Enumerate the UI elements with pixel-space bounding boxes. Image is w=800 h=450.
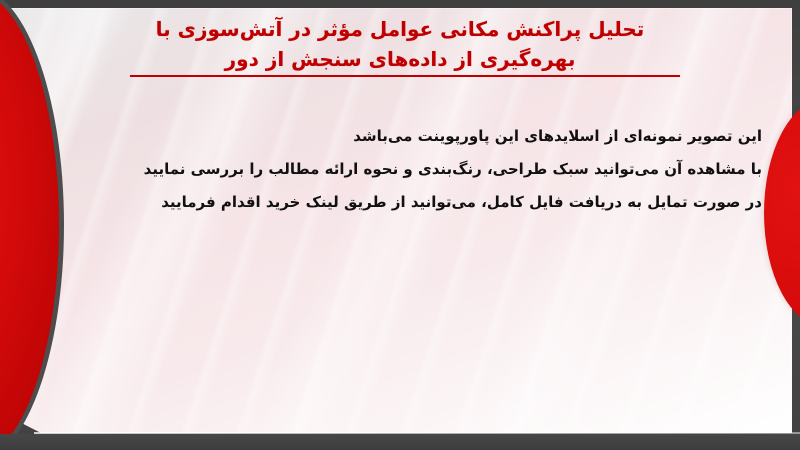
title-underline-rule [130, 75, 680, 77]
presentation-slide: تحلیل پراکنش مکانی عوامل مؤثر در آتش‌سوز… [0, 0, 800, 450]
body-line-1: این تصویر نمونه‌ای از اسلایدهای این پاور… [62, 120, 762, 153]
slide-title: تحلیل پراکنش مکانی عوامل مؤثر در آتش‌سوز… [0, 14, 800, 74]
bottom-dark-band [0, 434, 800, 450]
title-line-2: بهره‌گیری از داده‌های سنجش از دور [0, 44, 800, 74]
body-line-2: با مشاهده آن می‌توانید سبک طراحی، رنگ‌بن… [62, 153, 762, 186]
title-line-1: تحلیل پراکنش مکانی عوامل مؤثر در آتش‌سوز… [0, 14, 800, 44]
body-line-3: در صورت تمایل به دریافت فایل کامل، می‌تو… [62, 186, 762, 219]
slide-body-text: این تصویر نمونه‌ای از اسلایدهای این پاور… [62, 120, 762, 219]
